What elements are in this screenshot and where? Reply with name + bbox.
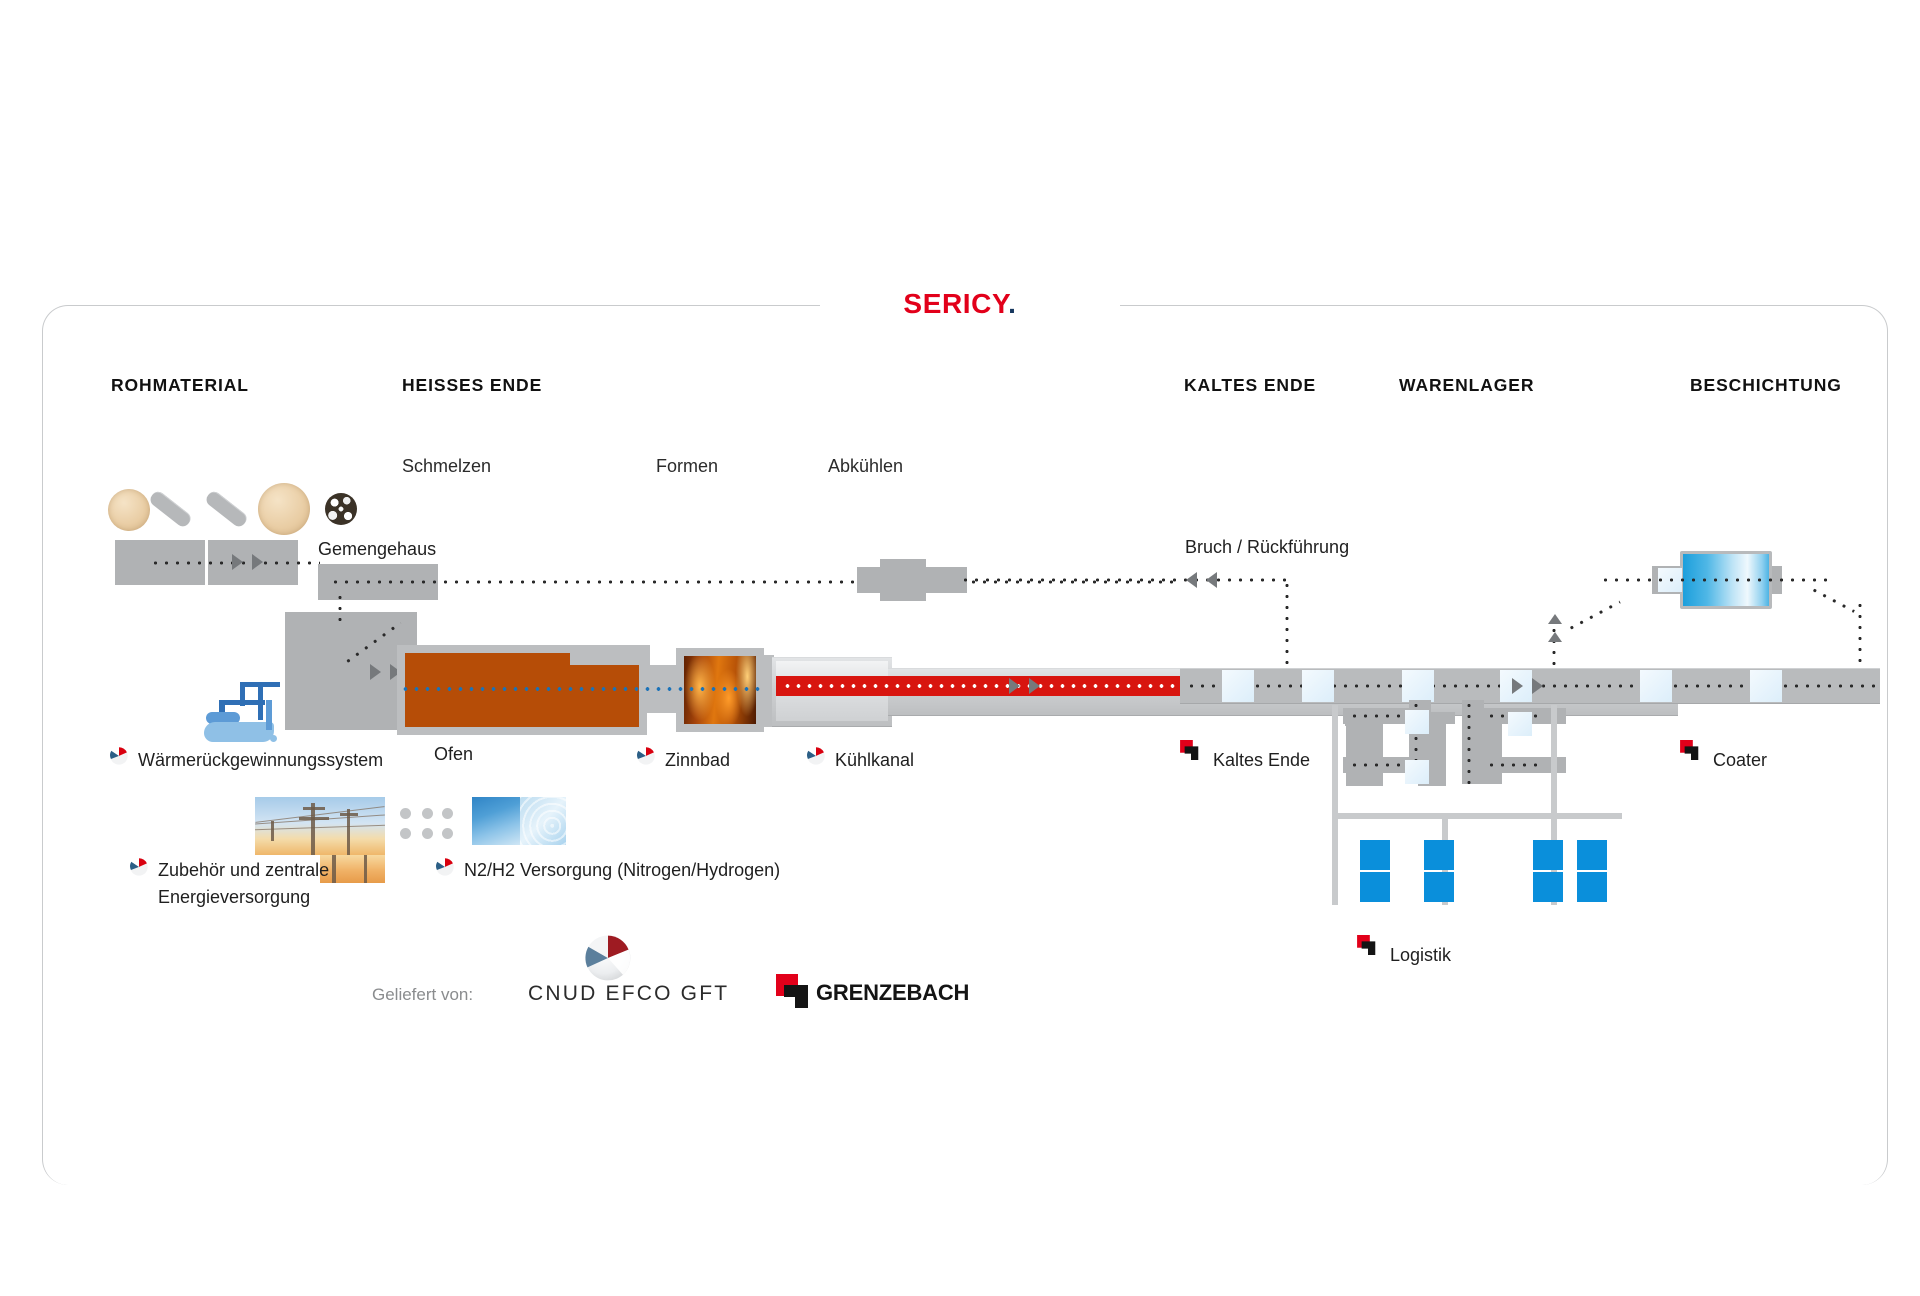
marker-label-logistik: Logistik	[1390, 943, 1451, 967]
furnace-crown	[570, 645, 650, 665]
process-diagram: SERICY. ROHMATERIAL HEISSES ENDE KALTES …	[0, 0, 1920, 1296]
warehouse-dots-aisle-r	[1467, 700, 1471, 788]
accessory-dot-3	[442, 808, 453, 819]
accessory-dot-6	[442, 828, 453, 839]
return-conveyor-hopper	[880, 559, 926, 601]
accessory-dot-5	[422, 828, 433, 839]
marker-label-kaltes-ende: Kaltes Ende	[1213, 748, 1310, 772]
warehouse-dots-l2	[1349, 763, 1407, 767]
flow-arrow-ribbon-1	[1009, 678, 1020, 694]
flow-return-line	[960, 578, 1290, 582]
photo-power-lines-lower	[320, 855, 385, 883]
section-header-warenlager: WARENLAGER	[1399, 375, 1534, 396]
accessory-dot-4	[400, 828, 411, 839]
glass-pane-3	[1402, 670, 1434, 702]
warehouse-pallet-7	[1533, 872, 1563, 902]
heat-recovery-node	[270, 735, 277, 742]
heat-recovery-pipe-6	[266, 700, 272, 730]
cnud-pie-icon	[580, 930, 636, 986]
glass-pane-5	[1640, 670, 1672, 702]
section-header-kaltes-ende: KALTES ENDE	[1184, 375, 1316, 396]
flow-arrow-up-1	[1548, 614, 1562, 624]
glass-pane-1	[1222, 670, 1254, 702]
flow-arrow-raw-1	[232, 554, 243, 570]
grenzebach-mark-icon-coater	[1680, 740, 1702, 760]
flow-arrow-ribbon-2	[1029, 678, 1040, 694]
grenzebach-mark-icon-kaltes-ende	[1180, 740, 1202, 760]
warehouse-pallet-1	[1360, 840, 1390, 870]
label-bruch-rueckfuehrung: Bruch / Rückführung	[1185, 535, 1349, 559]
pie-marker-icon-zubehoer	[128, 855, 150, 877]
warehouse-pallet-2	[1424, 840, 1454, 870]
raw-material-sand-round-2	[258, 483, 310, 535]
raw-material-cullet	[325, 493, 357, 525]
diagram-frame	[42, 305, 1888, 1185]
warehouse-pane-2	[1405, 760, 1429, 784]
supplied-by-label: Geliefert von:	[372, 985, 473, 1005]
photo-n2-sky	[472, 797, 520, 845]
coater-flow-dots	[1600, 578, 1830, 582]
flow-arrow-up-2	[1548, 632, 1562, 642]
marker-label-zubehoer-line1: Zubehör und zentrale	[158, 858, 329, 882]
flow-glass-in-furnace	[400, 687, 765, 691]
photo-n2-pattern	[520, 797, 566, 845]
stage-label-abkuehlen: Abkühlen	[828, 456, 903, 477]
warehouse-dots-l1	[1349, 714, 1407, 718]
marker-label-coater: Coater	[1713, 748, 1767, 772]
photo-power-lines	[255, 797, 385, 855]
warehouse-rail-left	[1332, 705, 1338, 905]
pie-marker-icon-waermerueckgewinnung	[108, 744, 130, 766]
warehouse-rail-h	[1332, 813, 1622, 819]
coater-downcomer	[1858, 600, 1862, 670]
stage-label-schmelzen: Schmelzen	[402, 456, 491, 477]
conveyor-arrow-1	[1512, 678, 1523, 694]
warehouse-pallet-8	[1577, 872, 1607, 902]
section-header-rohmaterial: ROHMATERIAL	[111, 375, 249, 396]
stage-label-formen: Formen	[656, 456, 718, 477]
flow-arrow-raw-2	[252, 554, 263, 570]
glass-pane-6	[1750, 670, 1782, 702]
section-header-beschichtung: BESCHICHTUNG	[1690, 375, 1842, 396]
label-gemengehaus: Gemengehaus	[318, 537, 436, 561]
grenzebach-logo-text: GRENZEBACH	[816, 980, 969, 1006]
flow-return-riser	[1285, 580, 1289, 670]
marker-label-zinnbad: Zinnbad	[665, 748, 730, 772]
pie-marker-icon-kuehlkanal	[805, 744, 827, 766]
pie-marker-icon-zinnbad	[635, 744, 657, 766]
cnud-efco-gft-logo-text: CNUD EFCO GFT	[528, 982, 729, 1006]
diagram-title-dot: .	[1008, 288, 1016, 319]
flow-arrow-furnace-1	[370, 664, 381, 680]
flow-arrow-return-2	[1206, 572, 1217, 588]
warehouse-pane-1	[1405, 710, 1429, 734]
grenzebach-mark-icon-logistik	[1357, 935, 1379, 955]
accessory-dot-2	[422, 808, 433, 819]
marker-label-kuehlkanal: Kühlkanal	[835, 748, 914, 772]
warehouse-pallet-3	[1360, 872, 1390, 902]
conveyor-arrow-2	[1532, 678, 1543, 694]
warehouse-pallet-6	[1577, 840, 1607, 870]
flow-arrow-return-1	[1186, 572, 1197, 588]
marker-label-zubehoer-line2: Energieversorgung	[158, 885, 310, 909]
heat-recovery-pipe-5	[258, 684, 263, 720]
marker-label-n2h2: N2/H2 Versorgung (Nitrogen/Hydrogen)	[464, 858, 780, 882]
section-header-heisses-ende: HEISSES ENDE	[402, 375, 542, 396]
diagram-title: SERICY.	[0, 288, 1920, 320]
warehouse-dots-r2	[1486, 763, 1544, 767]
warehouse-rack-right	[1480, 708, 1502, 784]
glass-pane-2	[1302, 670, 1334, 702]
raw-material-sand-round-1	[108, 489, 150, 531]
diagram-title-text: SERICY	[903, 288, 1008, 319]
label-ofen: Ofen	[434, 742, 473, 766]
pie-marker-icon-n2h2	[434, 855, 456, 877]
marker-label-waermerueckgewinnung: Wärmerückgewinnungssystem	[138, 748, 383, 772]
accessory-dot-1	[400, 808, 411, 819]
warehouse-pallet-5	[1533, 840, 1563, 870]
grenzebach-mark-icon-footer	[776, 974, 814, 1008]
heat-recovery-tank	[204, 722, 274, 742]
flow-into-furnace-vert	[338, 592, 342, 627]
warehouse-pallet-4	[1424, 872, 1454, 902]
warehouse-pane-3	[1508, 712, 1532, 736]
